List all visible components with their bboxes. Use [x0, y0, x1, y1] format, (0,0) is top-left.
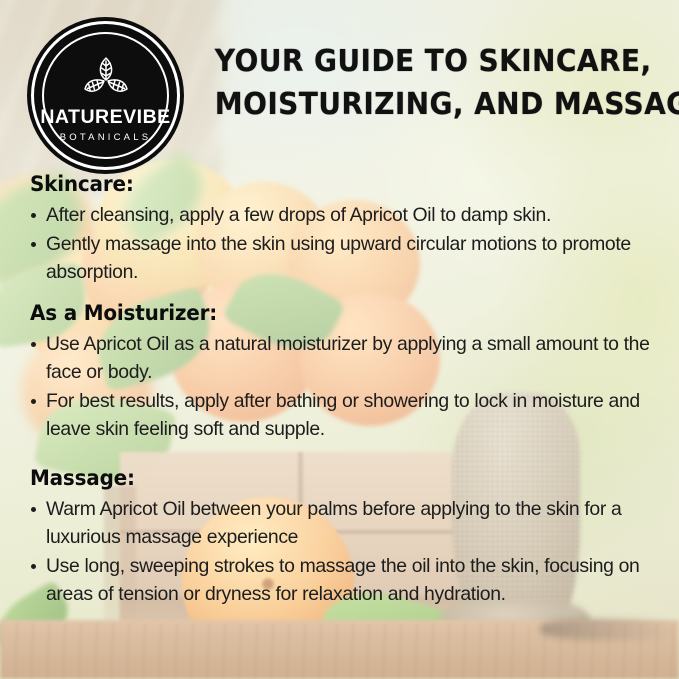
headline-line-1: YOUR GUIDE TO SKINCARE,: [215, 40, 647, 83]
bullet-list: Use Apricot Oil as a natural moisturizer…: [0, 331, 679, 443]
section-gap: [0, 444, 679, 466]
instruction-sections: Skincare: After cleansing, apply a few d…: [0, 172, 679, 609]
logo-inner-ring: [42, 32, 169, 159]
list-item: After cleansing, apply a few drops of Ap…: [46, 202, 665, 230]
section-heading: As a Moisturizer:: [30, 301, 647, 325]
section-gap: [0, 287, 679, 301]
list-item: Use long, sweeping strokes to massage th…: [46, 553, 665, 609]
list-item: For best results, apply after bathing or…: [46, 388, 665, 444]
section-moisturizer: As a Moisturizer: Use Apricot Oil as a n…: [0, 301, 679, 443]
apricot-oil-usage-infographic: NATUREVIBE BOTANICALS YOUR GUIDE TO SKIN…: [0, 0, 679, 679]
bullet-list: Warm Apricot Oil between your palms befo…: [0, 496, 679, 608]
section-skincare: Skincare: After cleansing, apply a few d…: [0, 172, 679, 286]
list-item: Use Apricot Oil as a natural moisturizer…: [46, 331, 665, 387]
section-heading: Massage:: [30, 466, 647, 490]
section-heading: Skincare:: [30, 172, 647, 196]
list-item: Warm Apricot Oil between your palms befo…: [46, 496, 665, 552]
brand-logo: NATUREVIBE BOTANICALS: [34, 24, 177, 167]
page-title: YOUR GUIDE TO SKINCARE, MOISTURIZING, AN…: [215, 40, 647, 127]
headline-line-2: MOISTURIZING, AND MASSAGE: [215, 83, 647, 126]
list-item: Gently massage into the skin using upwar…: [46, 231, 665, 287]
bullet-list: After cleansing, apply a few drops of Ap…: [0, 202, 679, 286]
section-massage: Massage: Warm Apricot Oil between your p…: [0, 466, 679, 608]
